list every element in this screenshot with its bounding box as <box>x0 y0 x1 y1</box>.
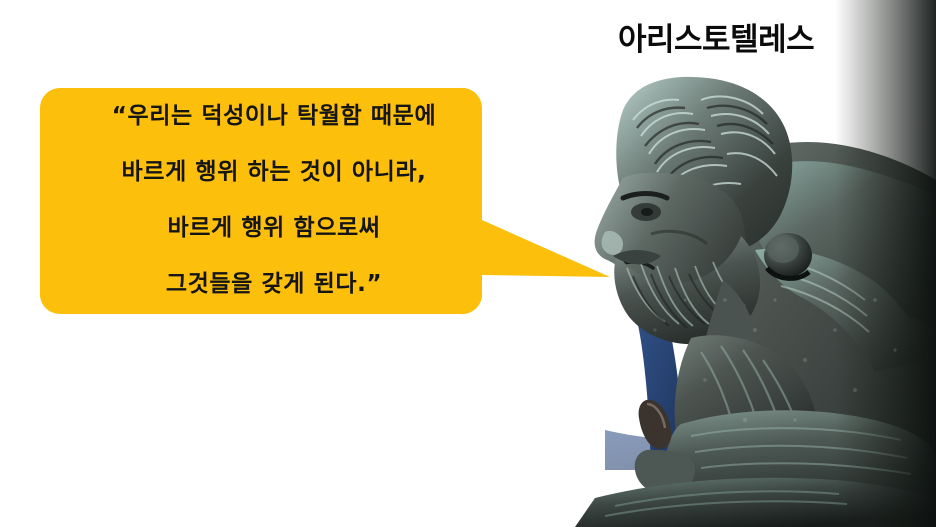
quote-line-2: 바르게 행위 하는 것이 아니라, <box>122 145 427 199</box>
slide-canvas: 아리스토텔레스 “우리는 덕성이나 탁월함 때문에 바르게 행위 하는 것이 아… <box>0 0 936 527</box>
statue-brooch <box>764 233 812 278</box>
quote-speech-bubble: “우리는 덕성이나 탁월함 때문에 바르게 행위 하는 것이 아니라, 바르게 … <box>38 86 618 318</box>
quote-line-3: 바르게 행위 함으로써 <box>167 201 380 255</box>
quote-line-4: 그것들을 갖게 된다.” <box>166 257 382 311</box>
quote-line-1: “우리는 덕성이나 탁월함 때문에 <box>112 89 436 143</box>
page-title: 아리스토텔레스 <box>618 22 814 58</box>
quote-text-block: “우리는 덕성이나 탁월함 때문에 바르게 행위 하는 것이 아니라, 바르게 … <box>52 100 496 300</box>
